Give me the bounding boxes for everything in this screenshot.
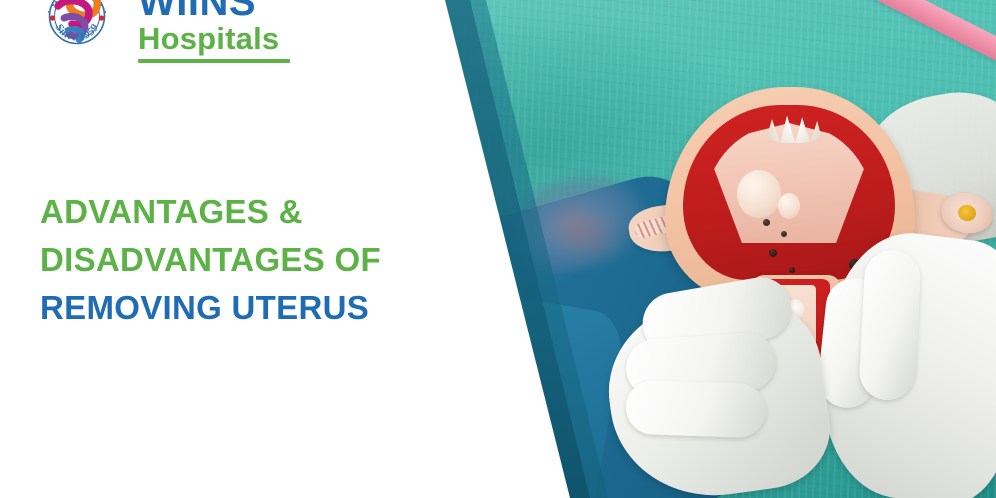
lesion-spot [769,249,777,257]
glove-finger [625,380,767,439]
lesion-spot [781,231,787,237]
lesion-spot [763,219,770,226]
banner-root: Since 1959 WIINS Hospitals ADVANTAGES & … [0,0,996,498]
cavity-nodule-primary [737,170,781,218]
brand-wordmark: WIINS Hospitals [138,0,290,63]
brand-logo[interactable]: Since 1959 WIINS Hospitals [0,0,290,63]
glove-finger [858,249,922,402]
brand-underline [138,59,290,63]
lesion-spot [789,267,795,273]
brand-subtitle: Hospitals [138,23,290,54]
wiins-emblem-icon: Since 1959 [22,0,132,54]
headline-line-2: DISADVANTAGES OF [40,236,381,284]
page-title: ADVANTAGES & DISADVANTAGES OF REMOVING U… [40,188,381,332]
headline-line-3: REMOVING UTERUS [40,284,381,332]
brand-name: WIINS [138,0,290,22]
headline-line-1: ADVANTAGES & [40,188,381,236]
